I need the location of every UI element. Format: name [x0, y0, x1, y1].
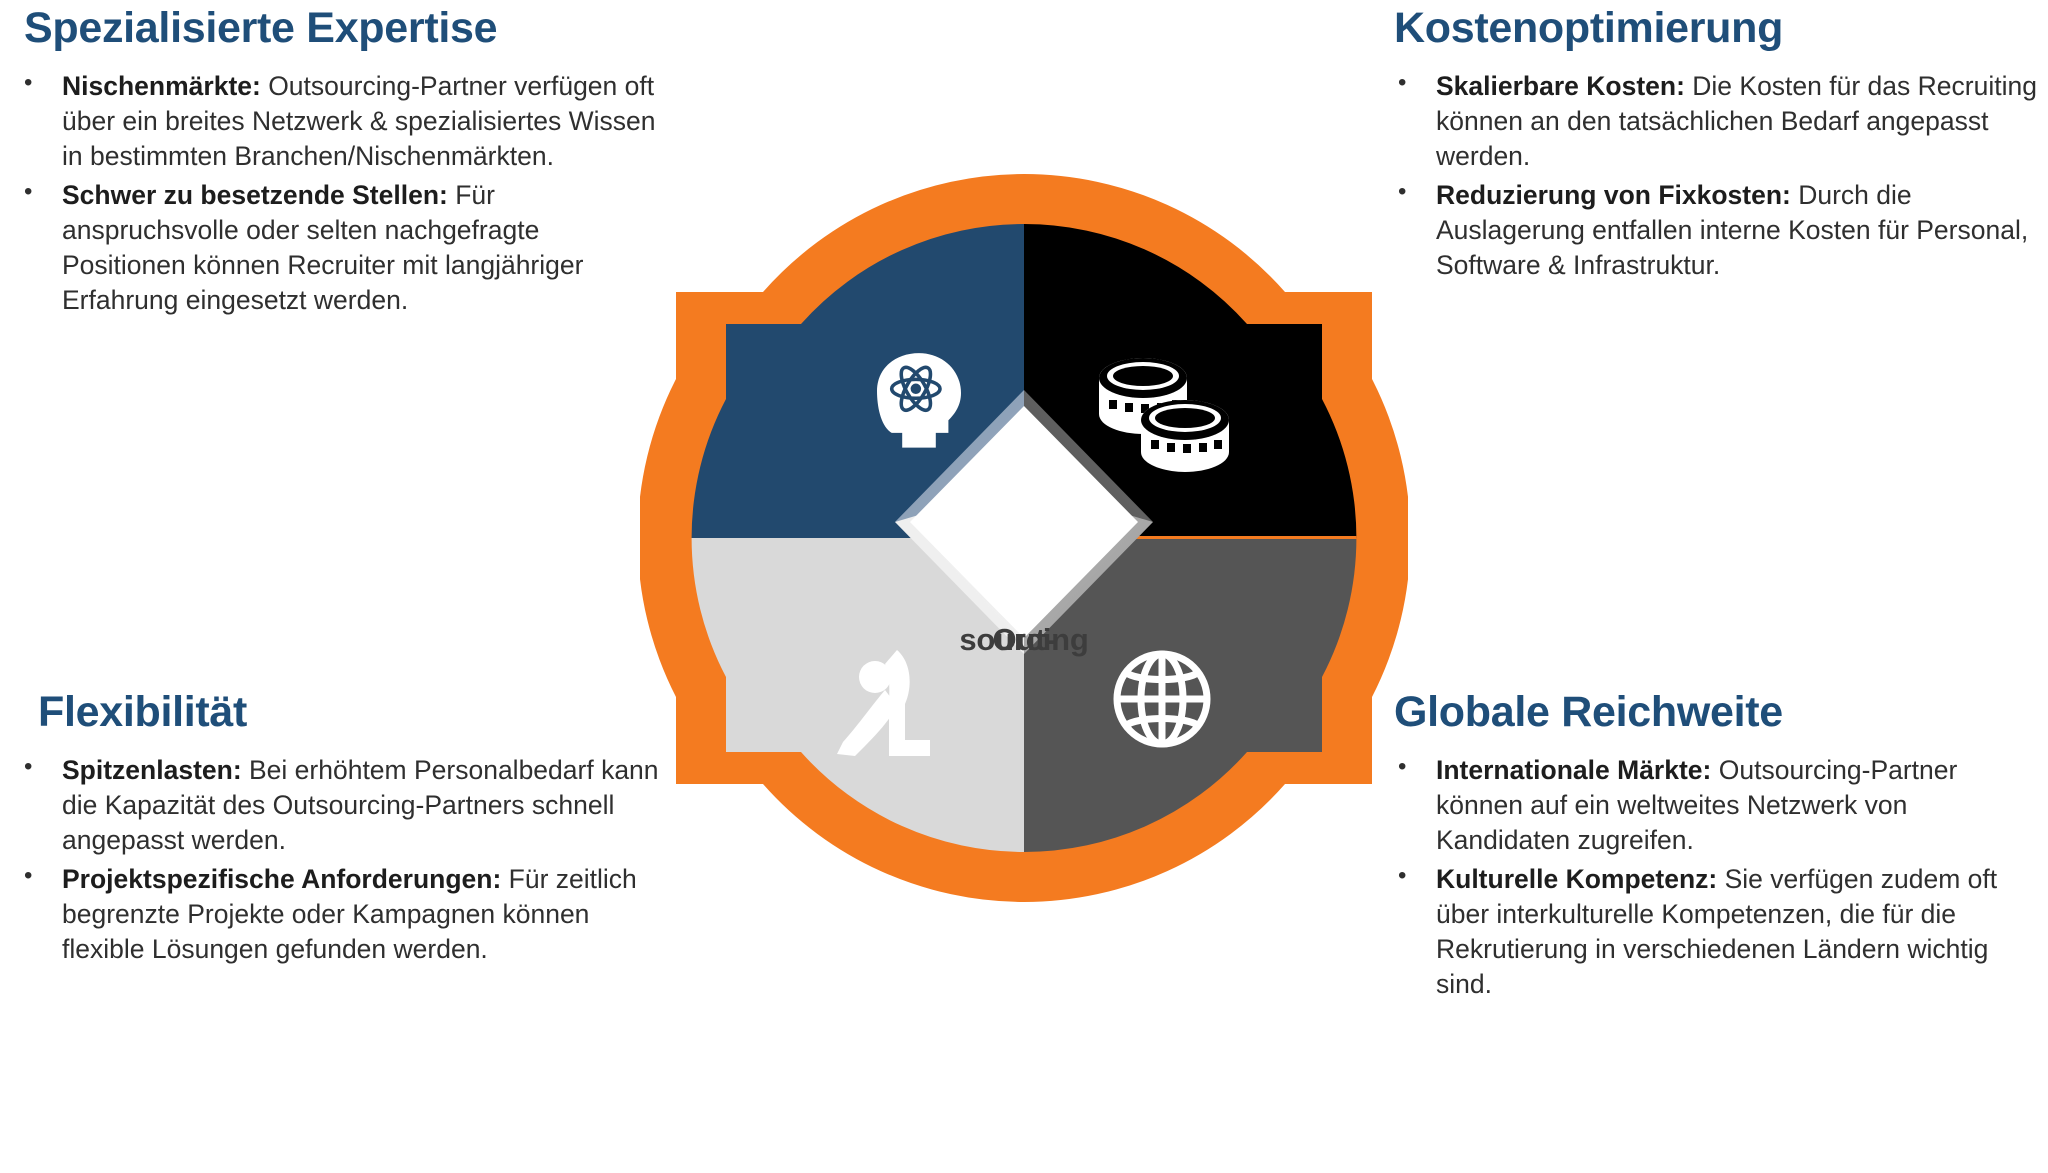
section-flexibilitaet: Flexibilität Spitzenlasten: Bei erhöhtem… [10, 690, 670, 971]
list-item: Spitzenlasten: Bei erhöhtem Personalbeda… [10, 753, 670, 858]
list-item: Skalierbare Kosten: Die Kosten für das R… [1384, 69, 2044, 174]
section-globale-reichweite: Globale Reichweite Internationale Märkte… [1384, 690, 2044, 1006]
globe-icon [1117, 654, 1207, 744]
bullet-lead: Spitzenlasten: [62, 755, 242, 785]
bullet-lead: Schwer zu besetzende Stellen: [62, 180, 448, 210]
bullet-list-flexibilitaet: Spitzenlasten: Bei erhöhtem Personalbeda… [10, 753, 670, 967]
bullet-lead: Projektspezifische Anforderungen: [62, 864, 501, 894]
bullet-lead: Reduzierung von Fixkosten: [1436, 180, 1791, 210]
list-item: Projektspezifische Anforderungen: Für ze… [10, 862, 670, 967]
page-title-kostenoptimierung: Kostenoptimierung [1384, 6, 2044, 51]
bullet-lead: Internationale Märkte: [1436, 755, 1711, 785]
list-item: Reduzierung von Fixkosten: Durch die Aus… [1384, 178, 2044, 283]
page-title-globale-reichweite: Globale Reichweite [1384, 690, 2044, 735]
bullet-list-globale-reichweite: Internationale Märkte: Outsourcing-Partn… [1384, 753, 2044, 1002]
section-kostenoptimierung: Kostenoptimierung Skalierbare Kosten: Di… [1384, 6, 2044, 287]
bullet-lead: Nischenmärkte: [62, 71, 261, 101]
list-item: Nischenmärkte: Outsourcing-Partner verfü… [10, 69, 670, 174]
bullet-lead: Kulturelle Kompetenz: [1436, 864, 1717, 894]
bullet-list-kostenoptimierung: Skalierbare Kosten: Die Kosten für das R… [1384, 69, 2044, 283]
list-item: Schwer zu besetzende Stellen: Für anspru… [10, 178, 670, 318]
outsourcing-badge-diagram [640, 138, 1408, 938]
list-item: Kulturelle Kompetenz: Sie verfügen zudem… [1384, 862, 2044, 1002]
section-spezialisierte-expertise: Spezialisierte Expertise Nischenmärkte: … [10, 6, 670, 322]
page-title-flexibilitaet: Flexibilität [10, 690, 670, 735]
bullet-list-spezialisierte-expertise: Nischenmärkte: Outsourcing-Partner verfü… [10, 69, 670, 318]
bullet-lead: Skalierbare Kosten: [1436, 71, 1685, 101]
list-item: Internationale Märkte: Outsourcing-Partn… [1384, 753, 2044, 858]
page-title-spezialisierte-expertise: Spezialisierte Expertise [10, 6, 670, 51]
